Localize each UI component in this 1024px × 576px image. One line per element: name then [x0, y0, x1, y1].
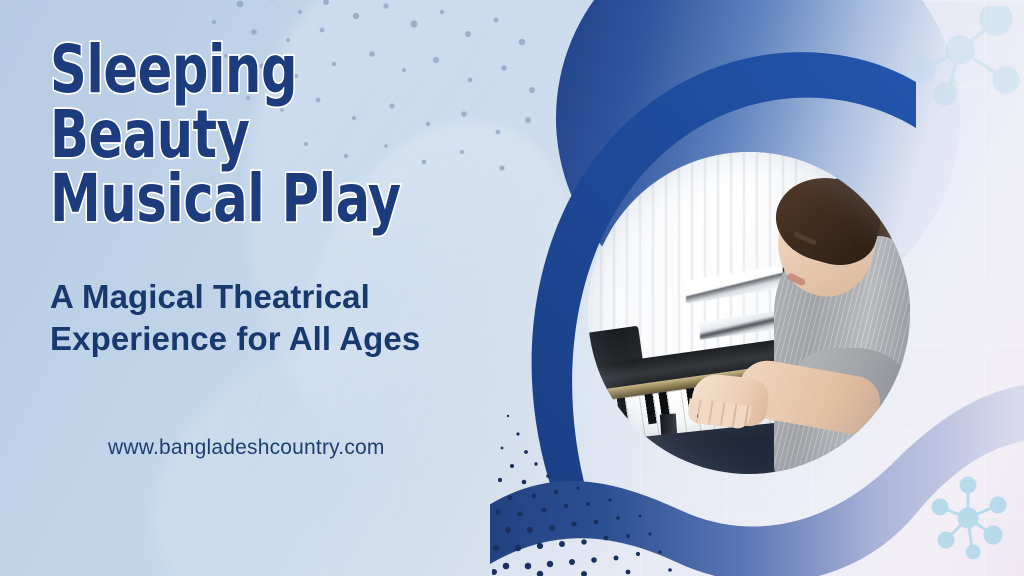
- halftone-dot-gradient: [492, 404, 682, 576]
- text-column: Sleeping Beauty Musical Play A Magical T…: [0, 0, 520, 576]
- website-url[interactable]: www.bangladeshcountry.com: [108, 436, 385, 460]
- promotional-banner: Sleeping Beauty Musical Play A Magical T…: [0, 0, 1024, 576]
- page-title: Sleeping Beauty Musical Play: [50, 38, 428, 232]
- molecule-icon-bottom-right: [922, 472, 1018, 568]
- subtitle: A Magical Theatrical Experience for All …: [50, 276, 500, 360]
